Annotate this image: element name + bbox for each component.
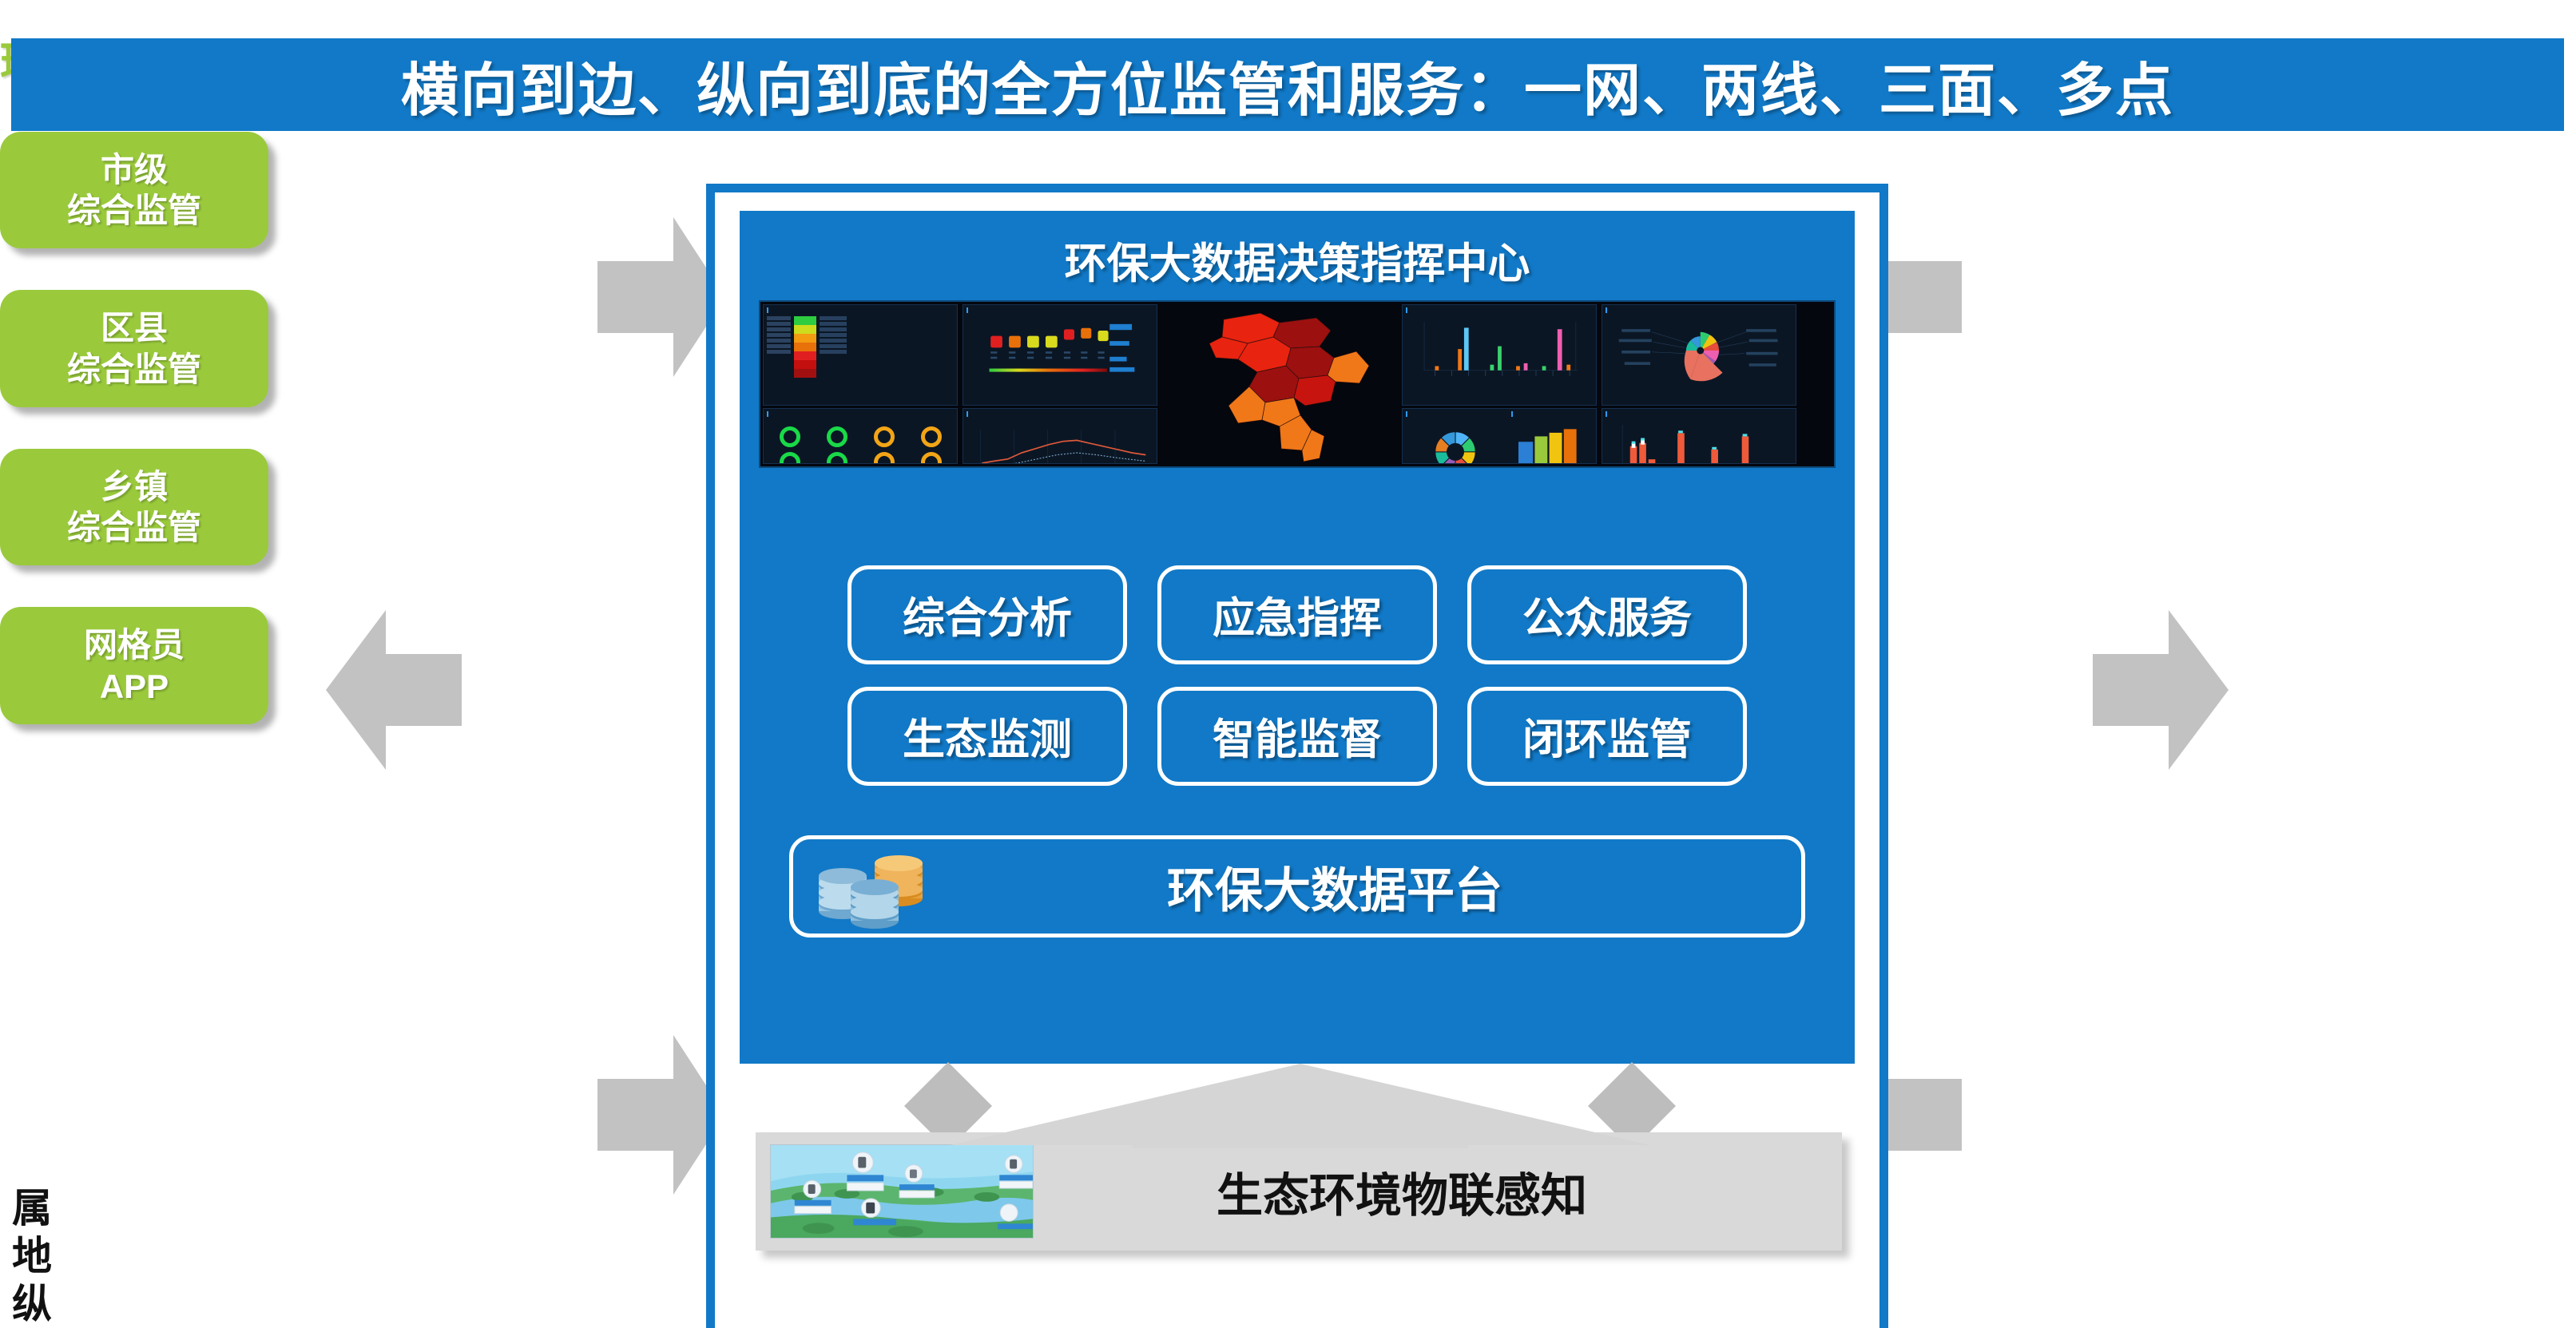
- feature-button-emergency-command[interactable]: 应急指挥: [1157, 565, 1437, 664]
- left-dept-box-township-line2: 综合监管: [5, 507, 264, 548]
- command-center-title: 环保大数据决策指挥中心: [740, 211, 1855, 291]
- left-department-panel: 环保部门 市级 综合监管 区县 综合监管 乡镇 综合监管 网格员 APP: [0, 27, 335, 1187]
- gauge-ring: [921, 426, 942, 447]
- pollution-source-donut-panel: [1402, 408, 1597, 464]
- left-dept-box-city[interactable]: 市级 综合监管: [0, 132, 268, 248]
- feature-button-ecological-monitoring[interactable]: 生态监测: [847, 687, 1127, 786]
- panel-title: [1403, 409, 1508, 420]
- left-dept-box-district-line1: 区县: [5, 307, 264, 348]
- source-analysis-rose-panel: [1602, 304, 1796, 406]
- pollution-trend-panel: [963, 408, 1157, 464]
- aerial-map-thumbnail: [770, 1144, 1034, 1239]
- source-rose-chart: [1602, 316, 1796, 385]
- panel-title: [1508, 409, 1596, 420]
- event-bar-chart: [1607, 422, 1791, 464]
- trend-line-chart: [968, 422, 1152, 464]
- left-dept-box-grid-app-line1: 网格员: [5, 624, 264, 665]
- panel-title: [1602, 409, 1796, 420]
- station-status-panel: [763, 408, 958, 464]
- iot-perception-label: 生态环境物联感知: [1034, 1158, 1770, 1225]
- gauge-ring: [874, 452, 895, 464]
- gauge-ring: [780, 426, 800, 447]
- regional-map-panel: [1160, 302, 1399, 466]
- feature-button-closed-loop-regulation[interactable]: 闭环监管: [1467, 687, 1747, 786]
- emission-bar-chart: [1407, 318, 1591, 382]
- iot-perception-bar: 生态环境物联感知: [756, 1132, 1842, 1251]
- arrow-left-middle-left-column: [326, 610, 462, 770]
- air-quality-ranking-panel: [763, 304, 958, 406]
- gauge-ring: [827, 426, 847, 447]
- page-title-banner: 横向到边、纵向到底的全方位监管和服务：一网、两线、三面、多点: [11, 38, 2564, 131]
- gauge-ring: [874, 426, 895, 447]
- left-dept-box-grid-app-line2: APP: [5, 666, 264, 707]
- air-quality-index-panel: [963, 304, 1157, 406]
- panel-title: [764, 409, 957, 420]
- page-title: 横向到边、纵向到底的全方位监管和服务：一网、两线、三面、多点: [401, 43, 2174, 127]
- arrow-right-middle-right-column: [2093, 610, 2229, 770]
- left-dept-box-district-line2: 综合监管: [5, 349, 264, 390]
- left-flow-label: 属地纵向管理线: [0, 1187, 58, 1328]
- dashboard-screenshot: [759, 300, 1836, 468]
- left-dept-box-grid-app[interactable]: 网格员 APP: [0, 607, 268, 723]
- left-dept-box-township-line1: 乡镇: [5, 466, 264, 507]
- panel-title: [1602, 305, 1796, 316]
- left-dept-box-township[interactable]: 乡镇 综合监管: [0, 449, 268, 565]
- left-dept-box-city-line2: 综合监管: [5, 190, 264, 231]
- pollution-event-bar-panel: [1602, 408, 1796, 464]
- panel-title: [963, 409, 1157, 420]
- gauge-ring: [827, 452, 847, 464]
- feature-button-public-service[interactable]: 公众服务: [1467, 565, 1747, 664]
- gauge-ring: [780, 452, 800, 464]
- arrow-up-platform-to-dashboard: [949, 1062, 1652, 1148]
- left-dept-box-city-line1: 市级: [5, 149, 264, 190]
- capability-block: 综合分析 应急指挥 公众服务 生态监测 智能监督 闭环监管: [740, 538, 1855, 1064]
- feature-button-smart-supervision[interactable]: 智能监督: [1157, 687, 1437, 786]
- database-stack-icon: [804, 842, 964, 930]
- source-donut-chart: [1403, 420, 1508, 464]
- panel-title: [764, 305, 957, 316]
- left-flow-column: 属地纵向管理线: [0, 1187, 150, 1328]
- feature-button-comprehensive-analysis[interactable]: 综合分析: [847, 565, 1127, 664]
- big-data-platform-label: 环保大数据平台: [964, 852, 1705, 922]
- left-dept-box-district[interactable]: 区县 综合监管: [0, 290, 268, 406]
- panel-title: [1403, 305, 1596, 316]
- big-data-platform-bar[interactable]: 环保大数据平台: [789, 835, 1805, 938]
- panel-title: [963, 305, 1157, 316]
- feature-button-grid: 综合分析 应急指挥 公众服务 生态监测 智能监督 闭环监管: [740, 538, 1855, 786]
- gauge-ring: [921, 452, 942, 464]
- emission-statistics-panel: [1402, 304, 1597, 406]
- diagram-canvas: 横向到边、纵向到底的全方位监管和服务：一网、两线、三面、多点 环保部门 市级 综…: [0, 27, 2576, 1328]
